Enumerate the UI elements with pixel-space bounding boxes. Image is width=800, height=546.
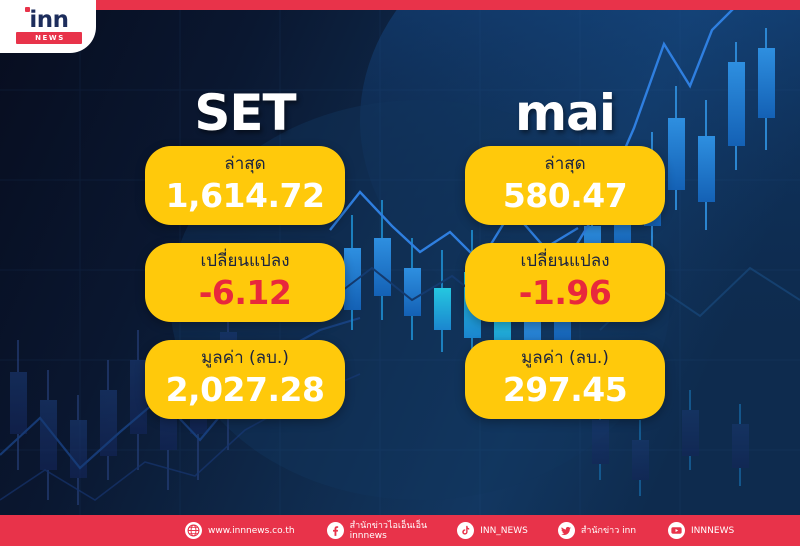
stat-label-mai-last: ล่าสุด [471, 153, 659, 176]
social-tiktok[interactable]: INN_NEWS [457, 522, 528, 539]
index-title-set: SET [145, 84, 345, 146]
tiktok-icon [457, 522, 474, 539]
logo-text: inn [29, 7, 68, 33]
stat-value-set-value: 2,027.28 [151, 370, 339, 410]
social-facebook-line2: innnews [350, 531, 428, 541]
stat-card-set-last[interactable]: ล่าสุด 1,614.72 [145, 146, 345, 225]
logo-dot-icon [25, 7, 30, 12]
stat-value-mai-value: 297.45 [471, 370, 659, 410]
stat-value-mai-change: -1.96 [471, 273, 659, 313]
index-panel-set: SET ล่าสุด 1,614.72 เปลี่ยนแปลง -6.12 มู… [145, 84, 345, 437]
stat-value-set-change: -6.12 [151, 273, 339, 313]
social-facebook-label: สำนักข่าวไอเอ็นเอ็น innnews [350, 521, 428, 541]
social-website[interactable]: www.innnews.co.th [185, 522, 295, 539]
stat-label-mai-change: เปลี่ยนแปลง [471, 250, 659, 273]
stat-label-mai-value: มูลค่า (ลบ.) [471, 347, 659, 370]
globe-icon [185, 522, 202, 539]
social-website-label: www.innnews.co.th [208, 526, 295, 536]
inn-news-logo[interactable]: inn NEWS [0, 0, 96, 53]
top-accent-bar [0, 0, 800, 10]
youtube-icon [668, 522, 685, 539]
stat-label-set-last: ล่าสุด [151, 153, 339, 176]
index-panel-mai: mai ล่าสุด 580.47 เปลี่ยนแปลง -1.96 มูลค… [465, 84, 665, 437]
logo-inner: inn NEWS [16, 11, 82, 44]
stat-label-set-change: เปลี่ยนแปลง [151, 250, 339, 273]
stat-card-mai-value[interactable]: มูลค่า (ลบ.) 297.45 [465, 340, 665, 419]
poster-canvas: inn NEWS SET ล่าสุด 1,614.72 เปลี่ยนแปลง… [0, 0, 800, 546]
social-youtube-label: INNNEWS [691, 526, 734, 536]
logo-news-badge: NEWS [16, 32, 82, 44]
stat-value-set-last: 1,614.72 [151, 176, 339, 216]
social-twitter[interactable]: สำนักข่าว inn [558, 522, 636, 539]
social-facebook-line1: สำนักข่าวไอเอ็นเอ็น [350, 521, 428, 531]
twitter-icon [558, 522, 575, 539]
social-facebook[interactable]: สำนักข่าวไอเอ็นเอ็น innnews [327, 521, 428, 541]
stat-card-set-change[interactable]: เปลี่ยนแปลง -6.12 [145, 243, 345, 322]
facebook-icon [327, 522, 344, 539]
stat-value-mai-last: 580.47 [471, 176, 659, 216]
stat-card-mai-change[interactable]: เปลี่ยนแปลง -1.96 [465, 243, 665, 322]
index-title-mai: mai [465, 84, 665, 146]
logo-wordmark: inn [16, 11, 82, 30]
stat-card-mai-last[interactable]: ล่าสุด 580.47 [465, 146, 665, 225]
social-twitter-label: สำนักข่าว inn [581, 526, 636, 536]
social-footer-bar: www.innnews.co.th สำนักข่าวไอเอ็นเอ็น in… [0, 515, 800, 546]
social-tiktok-label: INN_NEWS [480, 526, 528, 536]
social-youtube[interactable]: INNNEWS [668, 522, 734, 539]
stat-label-set-value: มูลค่า (ลบ.) [151, 347, 339, 370]
background-chart-art [0, 0, 800, 546]
stat-card-set-value[interactable]: มูลค่า (ลบ.) 2,027.28 [145, 340, 345, 419]
